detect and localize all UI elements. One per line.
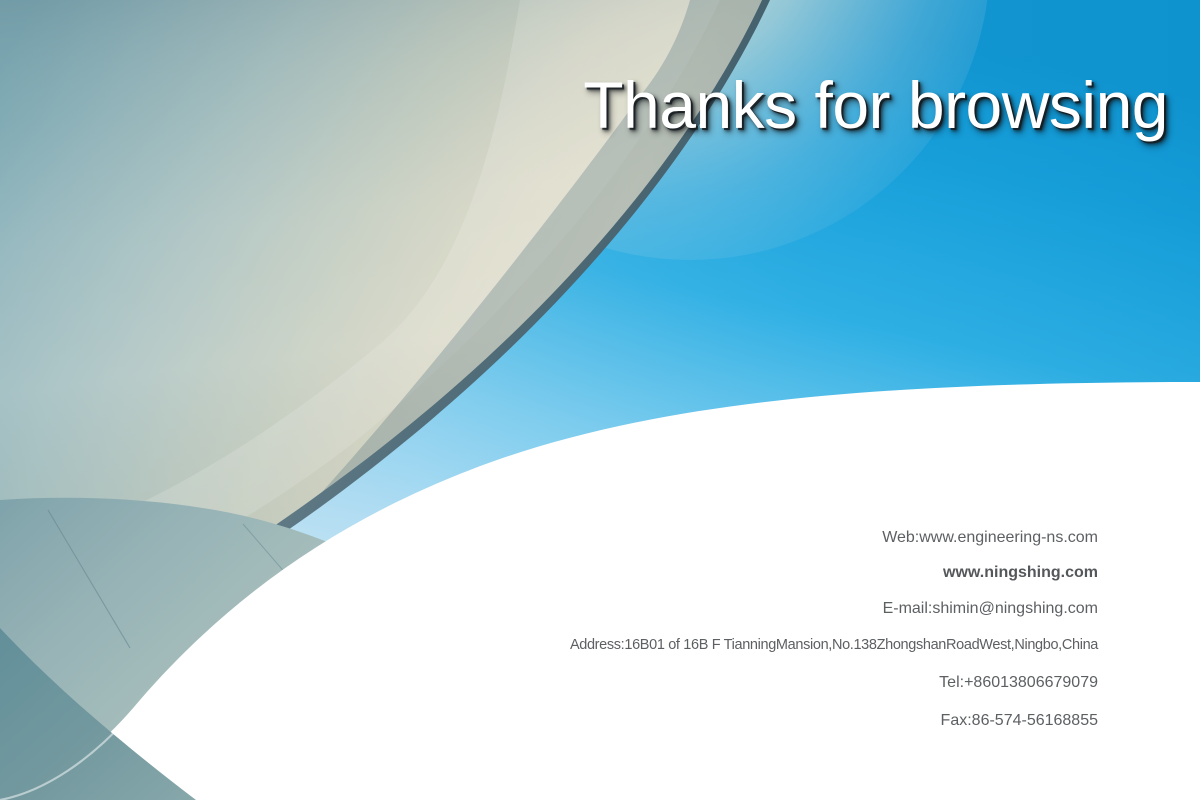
contact-site-line: www.ningshing.com: [0, 565, 1098, 581]
contact-information-block: Web:www.engineering-ns.com www.ningshing…: [0, 530, 1098, 729]
contact-fax-line: Fax:86-574-56168855: [0, 713, 1098, 729]
page-title: Thanks for browsing: [583, 72, 1168, 138]
contact-email-line: E-mail:shimin@ningshing.com: [0, 601, 1098, 617]
presentation-slide: Thanks for browsing Web:www.engineering-…: [0, 0, 1200, 800]
title-block: Thanks for browsing: [0, 72, 1168, 138]
contact-website-line: Web:www.engineering-ns.com: [0, 530, 1098, 546]
contact-address-line: Address:16B01 of 16B F TianningMansion,N…: [0, 638, 1098, 653]
contact-telephone-line: Tel:+86013806679079: [0, 675, 1098, 691]
